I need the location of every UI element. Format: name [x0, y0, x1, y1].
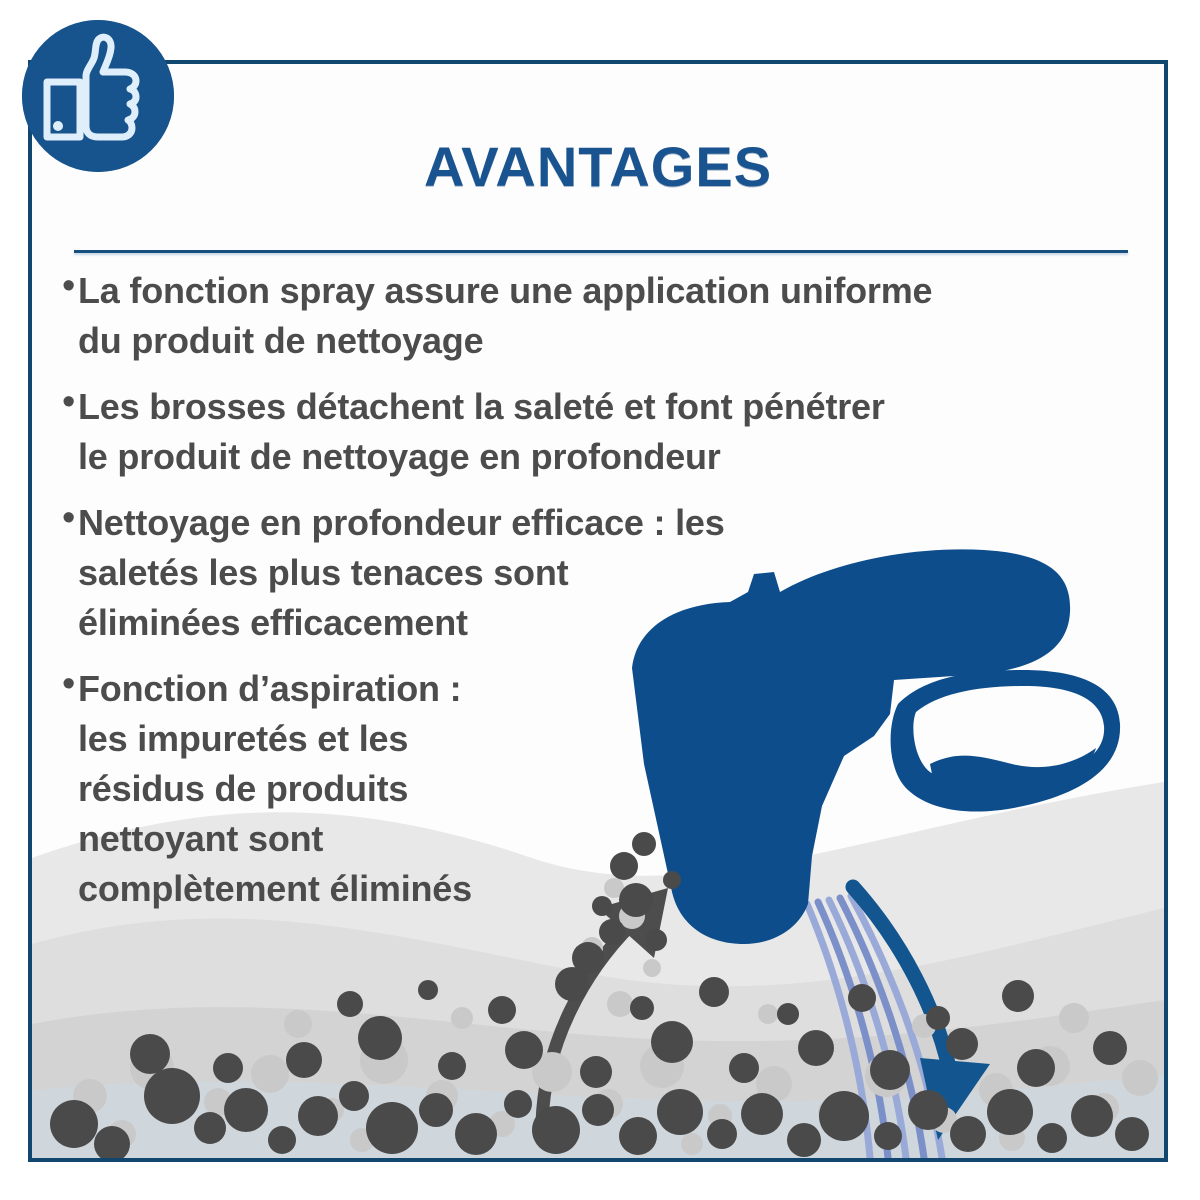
- advantages-poster: AVANTAGES • La fonction spray assure une…: [0, 0, 1200, 1200]
- bullet-marker-icon: •: [62, 264, 78, 308]
- thumbs-up-badge: [22, 20, 174, 172]
- list-item-text: Nettoyage en profondeur efficace : les s…: [78, 498, 725, 648]
- list-item-text: La fonction spray assure une application…: [78, 266, 932, 366]
- list-item: • La fonction spray assure une applicati…: [62, 266, 1107, 366]
- page-title: AVANTAGES: [32, 134, 1164, 199]
- list-item: • Les brosses détachent la saleté et fon…: [62, 382, 1107, 482]
- list-item-text: Fonction d’aspiration : les impuretés et…: [78, 664, 472, 914]
- list-item: • Fonction d’aspiration : les impuretés …: [62, 664, 1107, 914]
- bullet-marker-icon: •: [62, 496, 78, 540]
- bullet-marker-icon: •: [62, 380, 78, 424]
- list-item: • Nettoyage en profondeur efficace : les…: [62, 498, 1107, 648]
- bullet-marker-icon: •: [62, 662, 78, 706]
- thumbs-up-icon: [22, 20, 174, 172]
- title-divider: [74, 250, 1128, 253]
- poster-frame: AVANTAGES • La fonction spray assure une…: [28, 60, 1168, 1162]
- advantages-list: • La fonction spray assure une applicati…: [62, 266, 1107, 930]
- list-item-text: Les brosses détachent la saleté et font …: [78, 382, 885, 482]
